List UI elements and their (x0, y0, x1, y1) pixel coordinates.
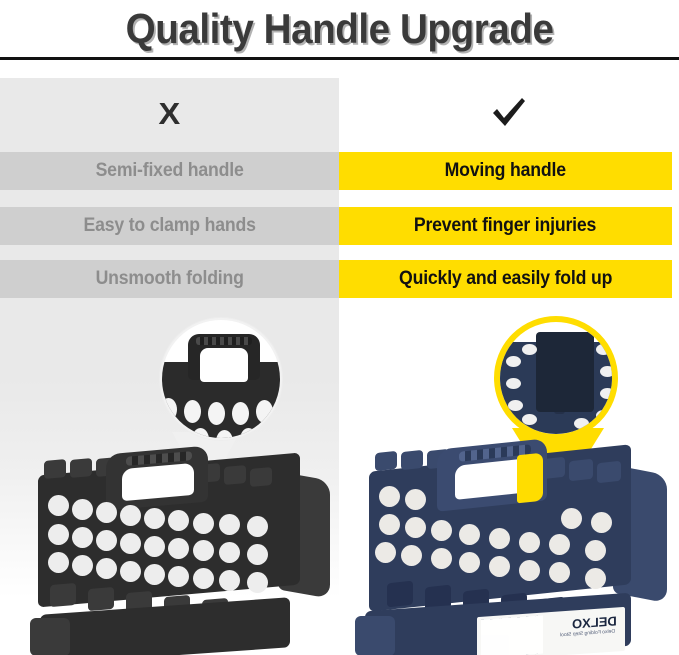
right-product-hole (459, 552, 480, 573)
positive-row-3-label: Quickly and easily fold up (399, 269, 612, 289)
negative-row-3: Unsmooth folding (0, 260, 339, 298)
left-product-hole (120, 533, 141, 554)
right-product-hole (585, 540, 606, 561)
zoom-left-hole (232, 402, 249, 425)
right-product-hole (489, 528, 510, 549)
right-product-hole (561, 508, 582, 529)
zoom-right-hole (522, 414, 537, 425)
zoom-right-hole (574, 418, 589, 429)
left-product-hinge (224, 465, 246, 485)
left-product-hinge (250, 467, 272, 487)
zoom-left-hole (208, 402, 225, 425)
left-product-hole (193, 513, 214, 534)
left-product-hole (72, 499, 93, 520)
left-product-hole (144, 508, 165, 529)
left-product-hole (120, 505, 141, 526)
zoom-right-hole (596, 344, 611, 355)
left-product-hole (48, 524, 69, 545)
negative-row-1-label: Semi-fixed handle (95, 161, 243, 181)
left-product-base (40, 597, 290, 655)
right-magnifier-circle (494, 316, 618, 440)
right-product-hole (585, 568, 606, 589)
left-product-hole (144, 564, 165, 585)
title-divider (0, 57, 679, 60)
right-product-hole (489, 556, 510, 577)
right-product-label-artwork (481, 616, 543, 655)
left-product-hole (96, 502, 117, 523)
zoom-right-hole (596, 410, 611, 421)
left-product-hole (247, 516, 268, 537)
left-product-hole (96, 558, 117, 579)
left-product-hole (72, 527, 93, 548)
left-product-hole (193, 568, 214, 589)
right-product-hinge (401, 450, 423, 470)
right-product-hole (519, 532, 540, 553)
negative-row-1: Semi-fixed handle (0, 152, 339, 190)
left-product-bottom-clip (50, 583, 76, 607)
zoom-left-hole (256, 400, 273, 423)
right-product-hinge (569, 459, 593, 482)
right-product-hole (431, 520, 452, 541)
negative-row-3-label: Unsmooth folding (95, 269, 243, 289)
left-product-hole (168, 510, 189, 531)
zoom-right-hole (600, 388, 615, 399)
negative-row-2: Easy to clamp hands (0, 207, 339, 245)
left-product-hole (193, 540, 214, 561)
negative-header-cell: X (0, 78, 339, 148)
zoom-right-hole (506, 378, 521, 389)
right-product-hole (459, 524, 480, 545)
positive-row-3: Quickly and easily fold up (339, 260, 672, 298)
zoom-right-hole (522, 344, 537, 355)
right-product-hinge (375, 451, 397, 471)
right-product-hole (405, 517, 426, 538)
positive-header-cell (339, 78, 679, 148)
left-product-leg (30, 618, 70, 655)
zoom-left-hole (184, 400, 201, 423)
positive-row-2-label: Prevent finger injuries (414, 216, 596, 236)
right-product-label-subtext: Delxo Folding Step Stool (560, 629, 615, 639)
right-product-hole (549, 562, 570, 583)
right-product-hole (379, 486, 400, 507)
right-product-hinge (597, 461, 621, 484)
zoom-left-handle-opening (200, 348, 248, 382)
page-title-container: Quality Handle Upgrade (0, 0, 679, 58)
right-product-bottom-clip (387, 581, 413, 608)
infographic-root: Quality Handle Upgrade X Semi-fixed hand… (0, 0, 679, 655)
right-product-image: DELXO Delxo Folding Step Stool (345, 440, 675, 655)
right-product-leg (355, 616, 395, 655)
zoom-right-hole (600, 366, 615, 377)
left-product-hole (219, 570, 240, 591)
right-product-hole (375, 542, 396, 563)
positive-row-2: Prevent finger injuries (339, 207, 672, 245)
right-product-hole (401, 545, 422, 566)
right-magnifier-content (500, 322, 612, 434)
left-product-hinge (44, 459, 66, 479)
left-product-hole (247, 572, 268, 593)
left-product-hole (219, 542, 240, 563)
left-product-hole (168, 566, 189, 587)
right-product-hole (519, 560, 540, 581)
left-product-hinge (70, 458, 92, 478)
zoom-right-hole (508, 400, 523, 411)
page-title: Quality Handle Upgrade (126, 7, 554, 51)
positive-row-1: Moving handle (339, 152, 672, 190)
positive-row-1-label: Moving handle (445, 161, 566, 181)
zoom-left-grip-ridges (196, 337, 252, 345)
right-product-hole (591, 512, 612, 533)
left-product-hole (247, 544, 268, 565)
comparison-header-row: X (0, 78, 679, 148)
left-product-hole (48, 495, 69, 516)
left-product-hole (96, 530, 117, 551)
left-magnifier-content (162, 320, 280, 438)
left-product-hole (72, 555, 93, 576)
left-product-bottom-clip (88, 587, 114, 611)
zoom-left-hole (160, 398, 177, 421)
left-product-hole (144, 536, 165, 557)
zoom-right-handle-recess (536, 332, 594, 412)
left-product-image (10, 448, 335, 655)
zoom-right-hole (506, 356, 521, 367)
x-mark-icon: X (159, 98, 181, 129)
check-mark-icon (489, 93, 529, 133)
right-product-hole (549, 534, 570, 555)
left-magnifier-circle (160, 318, 282, 440)
right-product-hole (379, 514, 400, 535)
right-product-handle-accent (517, 453, 543, 504)
right-product-hole (405, 489, 426, 510)
left-product-hole (120, 561, 141, 582)
left-product-handle-opening (122, 463, 194, 501)
right-product-hole (431, 548, 452, 569)
left-product-hole (219, 514, 240, 535)
left-product-hole (48, 552, 69, 573)
left-product-hole (168, 538, 189, 559)
negative-row-2-label: Easy to clamp hands (83, 216, 255, 236)
